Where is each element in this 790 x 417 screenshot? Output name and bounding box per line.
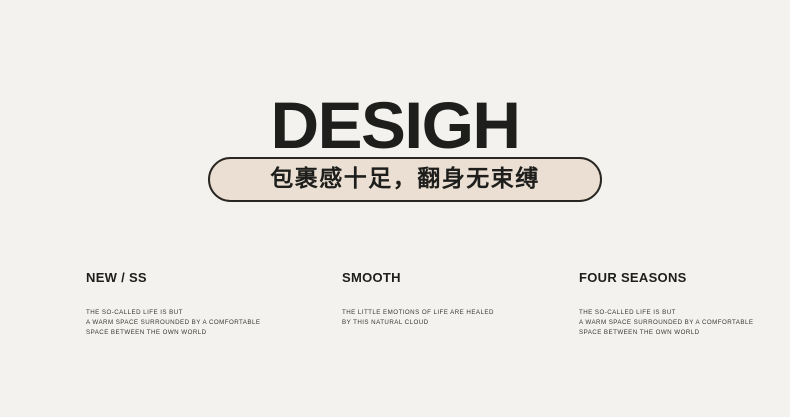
column-body-line: A WARM SPACE SURROUNDED BY A COMFORTABLE — [86, 318, 316, 328]
page-title: DESIGH — [271, 92, 520, 158]
column-body-line: THE SO-CALLED LIFE IS BUT — [579, 308, 779, 318]
column-heading: NEW / SS — [86, 270, 316, 286]
column-body-line: BY THIS NATURAL CLOUD — [342, 318, 572, 328]
column-heading: SMOOTH — [342, 270, 572, 286]
column-body: THE SO-CALLED LIFE IS BUT A WARM SPACE S… — [86, 308, 316, 339]
feature-column-new-ss: NEW / SS THE SO-CALLED LIFE IS BUT A WAR… — [86, 270, 316, 339]
tagline-banner: 包裹感十足，翻身无束缚 — [208, 157, 602, 202]
feature-column-smooth: SMOOTH THE LITTLE EMOTIONS OF LIFE ARE H… — [342, 270, 572, 328]
column-body-line: A WARM SPACE SURROUNDED BY A COMFORTABLE — [579, 318, 779, 328]
column-body-line: THE LITTLE EMOTIONS OF LIFE ARE HEALED — [342, 308, 572, 318]
poster-canvas: DESIGH 包裹感十足，翻身无束缚 NEW / SS THE SO-CALLE… — [0, 0, 790, 417]
column-heading: FOUR SEASONS — [579, 270, 779, 286]
column-body: THE LITTLE EMOTIONS OF LIFE ARE HEALED B… — [342, 308, 572, 328]
column-body-line: SPACE BETWEEN THE OWN WORLD — [86, 328, 316, 338]
column-body-line: THE SO-CALLED LIFE IS BUT — [86, 308, 316, 318]
column-body-line: SPACE BETWEEN THE OWN WORLD — [579, 328, 779, 338]
feature-columns: NEW / SS THE SO-CALLED LIFE IS BUT A WAR… — [0, 270, 790, 350]
feature-column-four-seasons: FOUR SEASONS THE SO-CALLED LIFE IS BUT A… — [579, 270, 779, 339]
column-body: THE SO-CALLED LIFE IS BUT A WARM SPACE S… — [579, 308, 779, 339]
tagline-text: 包裹感十足，翻身无束缚 — [270, 168, 540, 191]
